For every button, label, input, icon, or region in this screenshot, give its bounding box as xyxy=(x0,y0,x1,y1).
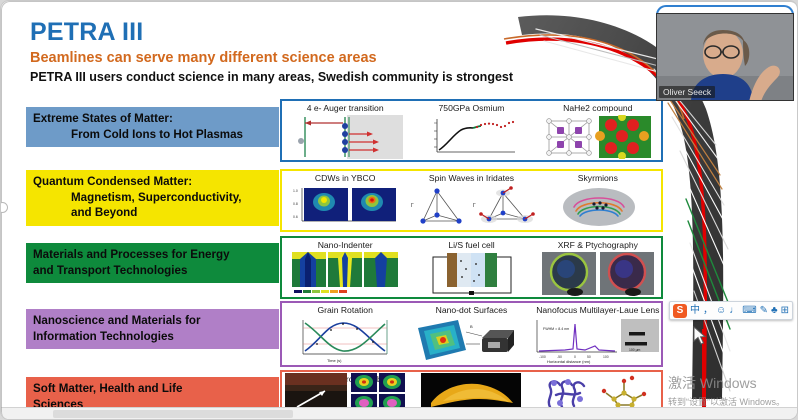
figure-osmium-plot xyxy=(408,115,534,159)
language-mode-icon[interactable]: 中 xyxy=(690,306,700,316)
participant-name-label: Oliver Seeck xyxy=(659,86,715,98)
category-line-1: Quantum Condensed Matter: xyxy=(33,175,192,188)
figure-caption: CDWs in YBCO xyxy=(282,173,408,183)
category-nanoscience-information[interactable]: Nanoscience and Materials for Informatio… xyxy=(26,309,279,349)
category-line-2: Information Technologies xyxy=(33,329,272,345)
bottom-strip-chip xyxy=(53,410,293,418)
figure-caption: XRF & Ptychography xyxy=(535,240,661,250)
figure-nahe2-compound xyxy=(535,115,661,159)
windows-activation-watermark: 激活 Windows 转到“设置”以激活 Windows。 xyxy=(668,373,785,408)
figure-nano-indenter xyxy=(282,251,408,296)
window-bottom-strip xyxy=(1,407,798,419)
svg-text:-100: -100 xyxy=(539,355,546,359)
category-line-2: and Transport Technologies xyxy=(33,263,272,279)
panel-figure-row xyxy=(282,373,661,409)
category-line-3: and Beyond xyxy=(33,205,272,221)
voice-input-icon[interactable]: ♩ xyxy=(729,306,739,316)
panel-quantum-condensed-matter[interactable]: CDWs in YBCO Spin Waves in Iridates Skyr… xyxy=(280,169,663,232)
category-line-2: Magnetism, Superconductivity, xyxy=(33,190,272,206)
category-line-1: Materials and Processes for Energy xyxy=(33,248,230,261)
figure-lytb-isph-structure xyxy=(535,373,661,409)
svg-text:1.0: 1.0 xyxy=(293,189,298,193)
slide-subtitle: Beamlines can serve many different scien… xyxy=(30,50,377,66)
figure-nano-dot-surfaces: B xyxy=(404,318,526,364)
panel-extreme-states[interactable]: 4 e- Auger transition 750GPa Osmium NaHe… xyxy=(280,99,663,162)
svg-text:Γ: Γ xyxy=(473,203,476,209)
svg-text:0.8: 0.8 xyxy=(293,202,298,206)
category-materials-energy-transport[interactable]: Materials and Processes for Energy and T… xyxy=(26,243,279,283)
soft-keyboard-icon[interactable]: ⌨ xyxy=(742,306,756,316)
mll-scalebar-label: 100 µm xyxy=(629,348,641,352)
slide-lead-text: PETRA III users conduct science in many … xyxy=(30,70,513,84)
panel-nanoscience-information[interactable]: Grain Rotation Nano-dot Surfaces Nanofoc… xyxy=(280,301,663,367)
svg-text:0.6: 0.6 xyxy=(293,215,298,219)
window-resize-handle-left[interactable] xyxy=(0,202,8,213)
handwriting-icon[interactable]: ✎ xyxy=(760,306,768,316)
svg-text:Γ: Γ xyxy=(411,203,414,209)
figure-caption: Nano-dot Surfaces xyxy=(408,305,534,315)
more-tools-icon[interactable]: ⊞ xyxy=(781,306,789,316)
category-quantum-condensed-matter[interactable]: Quantum Condensed Matter: Magnetism, Sup… xyxy=(26,170,279,226)
figure-caption: Li/S fuel cell xyxy=(408,240,534,250)
figure-caption: Skyrmions xyxy=(535,173,661,183)
category-extreme-states[interactable]: Extreme States of Matter: From Cold Ions… xyxy=(26,107,279,147)
panel-figure-row: Time (s) xyxy=(282,318,661,364)
figure-protein-fiber xyxy=(282,373,408,409)
panel-figure-row xyxy=(282,115,661,159)
punctuation-mode-icon[interactable]: ， xyxy=(703,306,713,316)
figure-caption: Nanofocus Multilayer-Laue Lens xyxy=(535,305,661,315)
mouse-cursor xyxy=(693,326,707,346)
figure-ancient-midge xyxy=(408,373,534,409)
category-line-2: From Cold Ions to Hot Plasmas xyxy=(33,127,272,143)
category-line-1: Soft Matter, Health and Life xyxy=(33,382,182,395)
category-soft-matter-health-life[interactable]: Soft Matter, Health and Life Sciences xyxy=(26,377,279,409)
category-line-1: Nanoscience and Materials for xyxy=(33,314,201,327)
panel-figure-row xyxy=(282,251,661,296)
mll-xlabel: Horizontal distance (nm) xyxy=(547,359,591,364)
figure-grain-rotation: Time (s) xyxy=(282,318,404,364)
skin-toolbox-icon[interactable]: ♣ xyxy=(771,306,778,316)
svg-text:100: 100 xyxy=(603,355,609,359)
panel-caption-row: CDWs in YBCO Spin Waves in Iridates Skyr… xyxy=(282,173,661,183)
figure-spin-waves-iridates: Γ Γ xyxy=(407,185,537,229)
figure-caption: NaHe2 compound xyxy=(535,103,661,113)
figure-auger-transition xyxy=(282,115,408,159)
grain-rotation-xlabel: Time (s) xyxy=(327,358,342,363)
sogou-logo-icon[interactable]: S xyxy=(673,304,687,318)
category-line-1: Extreme States of Matter: xyxy=(33,112,173,125)
ime-toolbar[interactable]: S 中 ， ☺ ♩ ⌨ ✎ ♣ ⊞ xyxy=(669,301,793,320)
mll-annotation: FWHM = 8.4 nm xyxy=(543,327,569,331)
figure-multilayer-laue-lens: -100-50 050 100 Horizontal distance (nm)… xyxy=(525,318,661,364)
panel-caption-row: Nano-Indenter Li/S fuel cell XRF & Ptych… xyxy=(282,240,661,250)
figure-caption: Spin Waves in Iridates xyxy=(408,173,534,183)
presentation-window: PETRA III Beamlines can serve many diffe… xyxy=(0,0,798,420)
video-participant-tile[interactable]: Oliver Seeck xyxy=(656,13,794,101)
figure-cdw-ybco: 1.00.80.6 xyxy=(282,185,407,229)
figure-caption: 4 e- Auger transition xyxy=(282,103,408,113)
figure-caption: Grain Rotation xyxy=(282,305,408,315)
panel-figure-row: 1.00.80.6 xyxy=(282,185,661,229)
svg-text:B: B xyxy=(470,324,473,329)
panel-materials-energy-transport[interactable]: Nano-Indenter Li/S fuel cell XRF & Ptych… xyxy=(280,236,663,299)
watermark-line-1: 激活 Windows xyxy=(668,373,785,393)
figure-caption: 750GPa Osmium xyxy=(408,103,534,113)
figure-xrf-ptychography xyxy=(535,251,661,296)
panel-caption-row: Grain Rotation Nano-dot Surfaces Nanofoc… xyxy=(282,305,661,315)
figure-skyrmions xyxy=(537,185,662,229)
figure-caption: Nano-Indenter xyxy=(282,240,408,250)
figure-lis-fuel-cell xyxy=(408,251,534,296)
panel-caption-row: 4 e- Auger transition 750GPa Osmium NaHe… xyxy=(282,103,661,113)
panel-soft-matter-health-life[interactable]: Strongest Protein Fiber Ancient Midge Ly… xyxy=(280,370,663,409)
emoji-icon[interactable]: ☺ xyxy=(716,306,726,316)
slide-title: PETRA III xyxy=(30,18,143,47)
